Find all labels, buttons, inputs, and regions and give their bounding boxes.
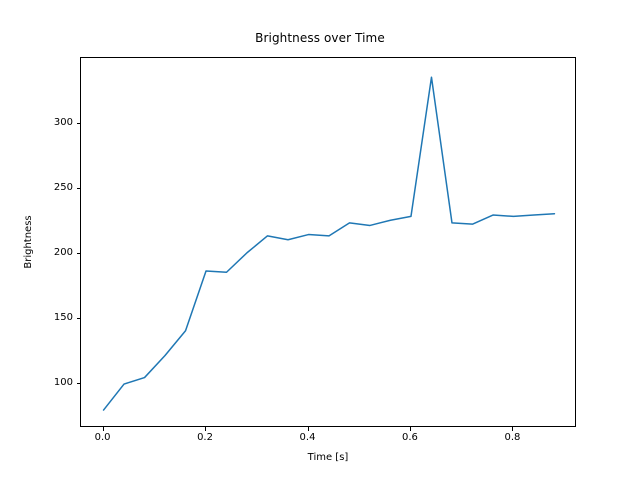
x-tick-mark (308, 427, 309, 431)
y-tick-mark (77, 123, 81, 124)
y-tick-mark (77, 318, 81, 319)
x-axis-label: Time [s] (80, 452, 576, 463)
y-axis-label: Brightness (22, 57, 36, 427)
x-tick-mark (512, 427, 513, 431)
x-tick-mark (410, 427, 411, 431)
y-tick-mark (77, 253, 81, 254)
y-tick-mark (77, 383, 81, 384)
plot-area (80, 57, 576, 427)
line-series-svg (81, 58, 577, 428)
x-tick-label: 0.4 (278, 433, 338, 443)
y-tick-label: 300 (27, 118, 73, 128)
y-tick-label: 200 (27, 248, 73, 258)
x-tick-mark (205, 427, 206, 431)
x-tick-label: 0.0 (73, 433, 133, 443)
page-title: Brightness over Time (0, 31, 640, 45)
x-tick-label: 0.2 (175, 433, 235, 443)
y-tick-label: 100 (27, 378, 73, 388)
x-tick-mark (103, 427, 104, 431)
x-tick-label: 0.6 (380, 433, 440, 443)
figure-canvas: Brightness over Time Brightness Time [s]… (0, 0, 640, 480)
brightness-line (104, 77, 555, 410)
y-tick-label: 150 (27, 313, 73, 323)
y-axis-label-wrap: Brightness (22, 57, 36, 427)
y-tick-mark (77, 188, 81, 189)
y-tick-label: 250 (27, 183, 73, 193)
x-tick-label: 0.8 (482, 433, 542, 443)
